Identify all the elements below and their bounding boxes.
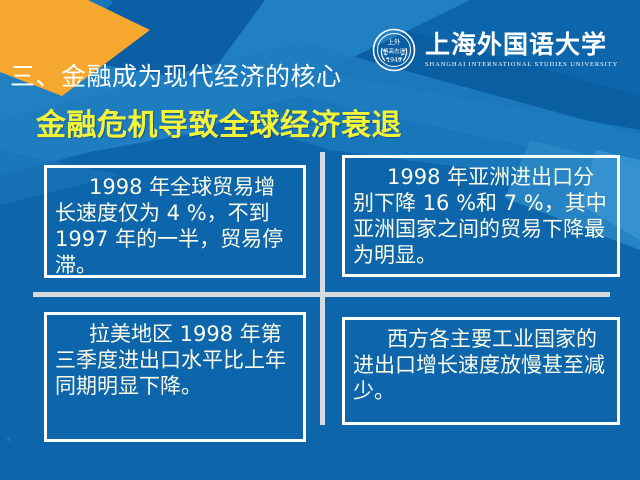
vertical-divider	[320, 152, 325, 425]
stray-bullet-mark: *	[6, 438, 12, 444]
university-name-en: SHANGHAI INTERNATIONAL STUDIES UNIVERSIT…	[425, 60, 618, 69]
svg-text:上外: 上外	[388, 37, 402, 46]
university-wordmark: 上海外国语大学 SHANGHAI INTERNATIONAL STUDIES U…	[425, 32, 618, 69]
slide-heading: 三、金融成为现代经济的核心	[10, 62, 430, 92]
content-box-top-left: 1998 年全球贸易增长速度仅为 4 %，不到 1997 年的一半，贸易停滞。	[44, 165, 306, 278]
content-box-top-right: 1998 年亚洲进出口分别下降 16 %和 7 %，其中亚洲国家之间的贸易下降最…	[342, 155, 620, 277]
slide-subheading: 金融危机导致全球经济衰退	[36, 108, 506, 144]
university-name-cn: 上海外国语大学	[425, 32, 618, 58]
svg-text:格高志远: 格高志远	[383, 47, 406, 55]
accent-orange-tip	[0, 0, 70, 34]
content-box-bottom-left: 拉美地区 1998 年第三季度进出口水平比上年同期明显下降。	[44, 312, 306, 442]
content-box-bottom-right: 西方各主要工业国家的进出口增长速度放慢甚至减少。	[342, 317, 620, 425]
presentation-slide: 上外 格高志远 1949 上海外国语大学 SHANGHAI INTERNATIO…	[0, 0, 640, 480]
